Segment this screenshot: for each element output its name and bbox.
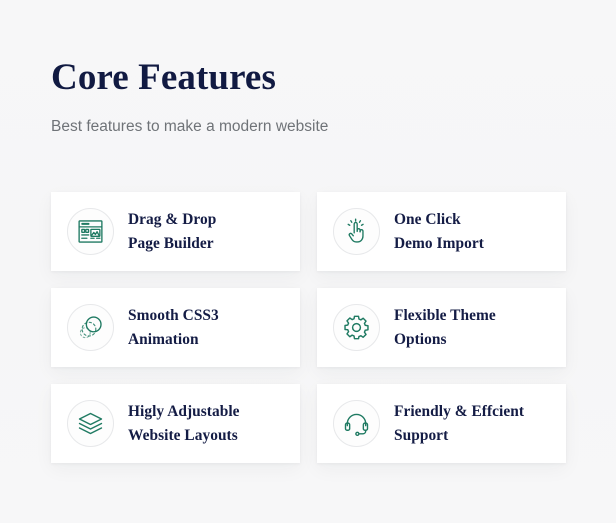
feature-card-demo-import[interactable]: One Click Demo Import: [317, 192, 566, 271]
section-header: Core Features Best features to make a mo…: [51, 55, 551, 138]
feature-card-support[interactable]: Friendly & Effcient Support: [317, 384, 566, 463]
feature-title-line2: Page Builder: [128, 232, 216, 256]
page-title: Core Features: [51, 55, 551, 101]
feature-title-line2: Animation: [128, 328, 219, 352]
feature-card-label: One Click Demo Import: [394, 208, 484, 255]
gear-icon: [333, 304, 380, 351]
feature-card-animation[interactable]: Smooth CSS3 Animation: [51, 288, 300, 367]
feature-card-label: Smooth CSS3 Animation: [128, 304, 219, 351]
feature-title-line2: Options: [394, 328, 496, 352]
feature-title-line1: Flexible Theme: [394, 304, 496, 328]
feature-card-label: Drag & Drop Page Builder: [128, 208, 216, 255]
feature-title-line2: Demo Import: [394, 232, 484, 256]
feature-title-line2: Website Layouts: [128, 424, 240, 448]
feature-title-line2: Support: [394, 424, 524, 448]
feature-card-label: Flexible Theme Options: [394, 304, 496, 351]
feature-title-line1: Higly Adjustable: [128, 400, 240, 424]
feature-title-line1: Friendly & Effcient: [394, 400, 524, 424]
feature-title-line1: One Click: [394, 208, 484, 232]
feature-card-label: Friendly & Effcient Support: [394, 400, 524, 447]
animation-circles-icon: [67, 304, 114, 351]
page-subtitle: Best features to make a modern website: [51, 101, 551, 138]
feature-card-layouts[interactable]: Higly Adjustable Website Layouts: [51, 384, 300, 463]
feature-title-line1: Drag & Drop: [128, 208, 216, 232]
feature-card-theme-options[interactable]: Flexible Theme Options: [317, 288, 566, 367]
click-hand-icon: [333, 208, 380, 255]
feature-card-page-builder[interactable]: Drag & Drop Page Builder: [51, 192, 300, 271]
feature-title-line1: Smooth CSS3: [128, 304, 219, 328]
features-section: Core Features Best features to make a mo…: [0, 0, 616, 523]
layers-icon: [67, 400, 114, 447]
feature-card-grid: Drag & Drop Page Builder One Click: [51, 192, 566, 463]
headset-icon: [333, 400, 380, 447]
page-builder-icon: [67, 208, 114, 255]
feature-card-label: Higly Adjustable Website Layouts: [128, 400, 240, 447]
